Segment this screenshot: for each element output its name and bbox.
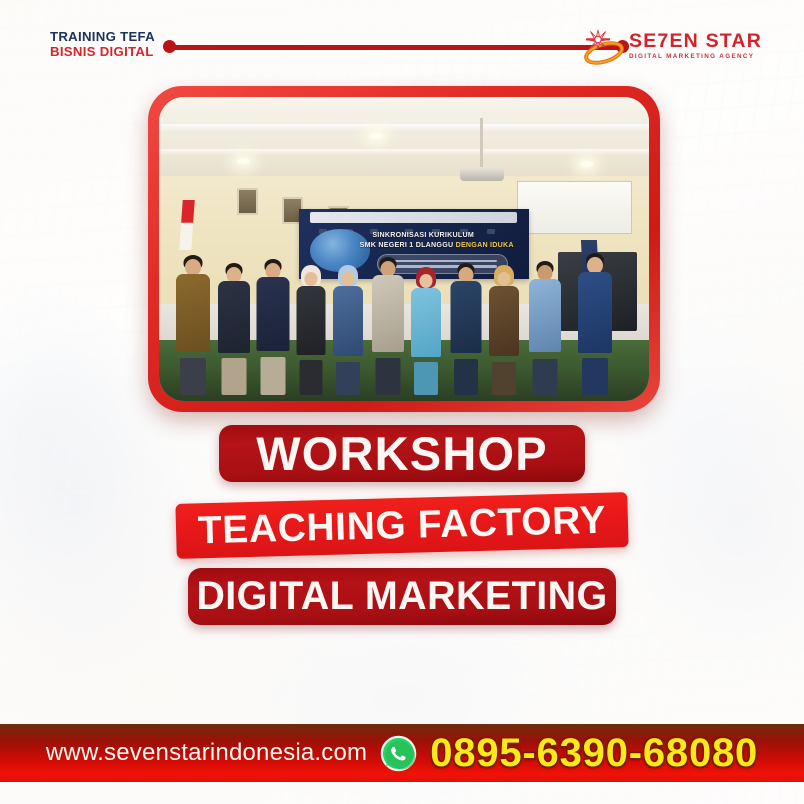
head xyxy=(304,272,317,286)
participant xyxy=(487,267,521,395)
whatsapp-phone-number[interactable]: 0895-6390-68080 xyxy=(430,731,758,776)
head xyxy=(498,272,511,286)
ceiling-beam xyxy=(159,149,649,156)
projector-rod xyxy=(480,118,483,170)
seven-star-burst-icon xyxy=(581,26,625,68)
participant xyxy=(255,260,292,395)
torso xyxy=(218,281,250,353)
torso xyxy=(372,275,404,352)
ceiling-beam xyxy=(159,124,649,133)
brand-name: SE7EN STAR xyxy=(629,30,762,52)
participant xyxy=(174,256,213,395)
participant xyxy=(215,264,252,395)
projector-icon xyxy=(460,167,504,181)
head xyxy=(341,272,354,286)
brand-logo: SE7EN STAR DIGITAL MARKETING AGENCY xyxy=(581,26,762,68)
header-eyebrow-line2: BISNIS DIGITAL xyxy=(50,45,155,60)
legs xyxy=(299,360,322,394)
torso xyxy=(451,281,482,353)
brand-tagline: DIGITAL MARKETING AGENCY xyxy=(629,54,762,60)
room-ceiling xyxy=(159,97,649,182)
header-eyebrow: TRAINING TEFA BISNIS DIGITAL xyxy=(50,30,155,60)
title-banner-teaching-factory: TEACHING FACTORY xyxy=(175,492,628,559)
poster-canvas: TRAINING TEFA BISNIS DIGITAL xyxy=(0,0,804,804)
legs xyxy=(376,358,401,395)
participant xyxy=(370,258,407,395)
title-stack: WORKSHOP TEACHING FACTORY DIGITAL MARKET… xyxy=(0,425,804,625)
legs xyxy=(336,362,360,395)
participants-group xyxy=(159,213,649,395)
participant xyxy=(527,262,564,395)
title-banner-digital-marketing: DIGITAL MARKETING xyxy=(188,568,616,625)
ceiling-lamp-icon xyxy=(237,158,250,164)
whatsapp-icon[interactable] xyxy=(380,735,417,772)
poster-header: TRAINING TEFA BISNIS DIGITAL xyxy=(0,0,804,96)
torso xyxy=(256,277,289,351)
torso xyxy=(578,272,612,352)
header-eyebrow-line1: TRAINING TEFA xyxy=(50,30,155,45)
participant xyxy=(576,254,615,394)
torso xyxy=(529,279,561,352)
legs xyxy=(454,359,478,394)
wall-portrait xyxy=(237,188,258,215)
torso xyxy=(489,286,519,356)
title-banner-workshop: WORKSHOP xyxy=(219,425,585,482)
website-url[interactable]: www.sevenstarindonesia.com xyxy=(46,739,367,767)
ceiling-lamp-icon xyxy=(580,161,593,167)
header-divider-rule xyxy=(163,40,629,54)
torso xyxy=(333,286,363,356)
legs xyxy=(532,359,557,395)
torso xyxy=(176,274,210,352)
participant xyxy=(294,267,328,395)
participant xyxy=(331,267,365,395)
legs xyxy=(414,362,438,395)
torso xyxy=(296,286,325,355)
hero-photo: SINKRONISASI KURIKULUM SMK NEGERI 1 DLAN… xyxy=(159,97,649,401)
legs xyxy=(582,358,608,395)
participant xyxy=(409,269,443,395)
legs xyxy=(492,362,516,395)
legs xyxy=(221,358,246,395)
brand-wordmark: SE7EN STAR DIGITAL MARKETING AGENCY xyxy=(629,32,762,61)
head xyxy=(420,274,433,288)
divider-line xyxy=(169,45,623,50)
poster-footer: www.sevenstarindonesia.com 0895-6390-680… xyxy=(0,724,804,782)
torso xyxy=(411,288,441,357)
participant xyxy=(448,264,485,395)
legs xyxy=(180,358,206,395)
hero-photo-frame: SINKRONISASI KURIKULUM SMK NEGERI 1 DLAN… xyxy=(148,86,660,412)
legs xyxy=(260,357,285,395)
